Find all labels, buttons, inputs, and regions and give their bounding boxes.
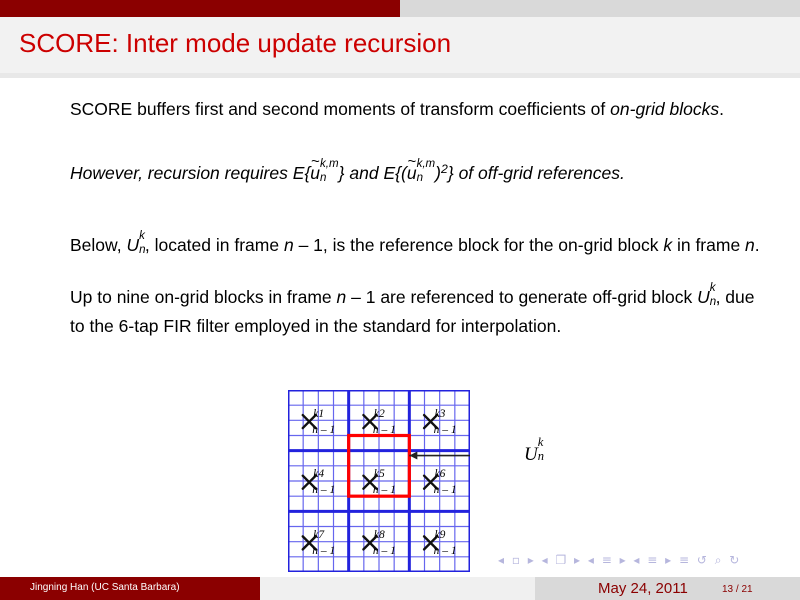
block-label-superscript: k1	[313, 408, 324, 420]
block-label-subscript: n – 1	[434, 545, 457, 557]
top-bar-accent	[0, 0, 400, 17]
block-label-subscript: n – 1	[434, 484, 457, 496]
block-label-subscript: n – 1	[373, 545, 396, 557]
p2-lead: However, recursion requires	[70, 163, 288, 183]
p2-expr2-sub: n	[417, 165, 423, 191]
tilde-accent-icon-2: ~	[407, 149, 416, 175]
math-expectation-second-moment: E{(~uk,mk,mn)2}	[383, 163, 458, 183]
p2-expr2-E: E	[383, 163, 395, 183]
math-U-inline-1: Ukkn	[126, 235, 144, 255]
grid-block-labels: k1n – 1k2n – 1k3n – 1k4n – 1k5n – 1k6n –…	[288, 390, 470, 572]
callout-sup: k	[538, 435, 544, 450]
footer-middle-block	[260, 577, 535, 600]
math-expectation-first-moment: E{~uk,mk,mn}	[293, 163, 350, 183]
p2-expr2-close: }	[448, 163, 454, 183]
block-label-superscript: k2	[374, 408, 385, 420]
p2-expr2-open: {(	[395, 163, 407, 183]
p4-U-scripts: kkn	[710, 284, 716, 313]
p3-s5: .	[755, 235, 760, 255]
block-label-superscript: k6	[435, 468, 446, 480]
p3-n2: n	[745, 235, 755, 255]
block-label-superscript: k5	[374, 468, 385, 480]
p3-U-scripts: kkn	[139, 232, 145, 261]
p2-expr2-u: ~u	[407, 160, 417, 186]
p4-U-sub: n	[710, 289, 716, 315]
block-label-superscript: k7	[313, 529, 324, 541]
slide: SCORE: Inter mode update recursion SCORE…	[0, 0, 800, 600]
callout-sub: n	[538, 449, 544, 464]
top-bar	[0, 0, 800, 17]
p3-s1: Below,	[70, 235, 126, 255]
p2-expr1-scripts: k,mk,mn	[320, 160, 339, 189]
p2-expr1-E: E	[293, 163, 305, 183]
p3-s3: – 1, is the reference block for the on-g…	[294, 235, 664, 255]
beamer-navigation-symbols[interactable]: ◂ ▫ ▸ ◂ ❐ ▸ ◂ ≡ ▸ ◂ ≡ ▸ ≡ ↺ ⌕ ↻	[498, 553, 741, 568]
p3-s2: , located in frame	[145, 235, 284, 255]
p3-U: U	[126, 235, 139, 255]
paragraph-below-U: Below, Ukkn, located in frame n – 1, is …	[70, 232, 770, 261]
footer-page-number: 13 / 21	[722, 584, 753, 595]
p3-n1: n	[284, 235, 294, 255]
p1-text-1: SCORE buffers first and second moments o…	[70, 99, 610, 119]
p3-s4: in frame	[672, 235, 745, 255]
p2-mid: and	[349, 163, 378, 183]
footer-bar: Jingning Han (UC Santa Barbara) May 24, …	[0, 577, 800, 600]
block-label-subscript: n – 1	[312, 424, 335, 436]
paragraph-up-to-nine: Up to nine on-grid blocks in frame n – 1…	[70, 284, 770, 339]
p3-U-sub: n	[139, 237, 145, 263]
p2-expr1-sub: n	[320, 165, 326, 191]
block-label-subscript: n – 1	[434, 424, 457, 436]
p4-s1: Up to nine on-grid blocks in frame	[70, 287, 337, 307]
p2-expr2-scripts: k,mk,mn	[417, 160, 436, 189]
callout-label-Uk: Ukkn	[524, 444, 543, 466]
block-label-superscript: k8	[374, 529, 385, 541]
reference-block-grid-diagram: k1n – 1k2n – 1k3n – 1k4n – 1k5n – 1k6n –…	[288, 390, 470, 572]
block-label-superscript: k3	[435, 408, 446, 420]
title-band-separator	[0, 73, 800, 78]
footer-author: Jingning Han (UC Santa Barbara)	[30, 582, 180, 593]
page-title: SCORE: Inter mode update recursion	[19, 28, 451, 59]
p4-n1: n	[337, 287, 347, 307]
block-label-superscript: k4	[313, 468, 324, 480]
p2-tail: of off-grid references.	[459, 163, 625, 183]
p2-expr1-close: }	[339, 163, 345, 183]
block-label-subscript: n – 1	[373, 424, 396, 436]
p1-italic-on-grid-blocks: on-grid blocks	[610, 99, 719, 119]
p3-k: k	[663, 235, 672, 255]
callout-base: U	[524, 444, 538, 465]
block-label-subscript: n – 1	[312, 484, 335, 496]
p2-expr2-power: 2	[441, 162, 448, 176]
p2-expr1-u: ~u	[310, 160, 320, 186]
block-label-subscript: n – 1	[312, 545, 335, 557]
block-label-subscript: n – 1	[373, 484, 396, 496]
math-U-inline-2: Ukkn	[697, 287, 715, 307]
p4-s2: – 1 are referenced to generate off-grid …	[346, 287, 697, 307]
callout-scripts: kkn	[538, 444, 544, 466]
block-label-superscript: k9	[435, 529, 446, 541]
tilde-accent-icon: ~	[311, 149, 320, 175]
paragraph-score-buffers: SCORE buffers first and second moments o…	[70, 96, 770, 122]
paragraph-recursion-requires: However, recursion requires E{~uk,mk,mn}…	[70, 156, 770, 189]
footer-date: May 24, 2011	[598, 580, 688, 597]
p4-U: U	[697, 287, 710, 307]
p1-text-2: .	[719, 99, 724, 119]
